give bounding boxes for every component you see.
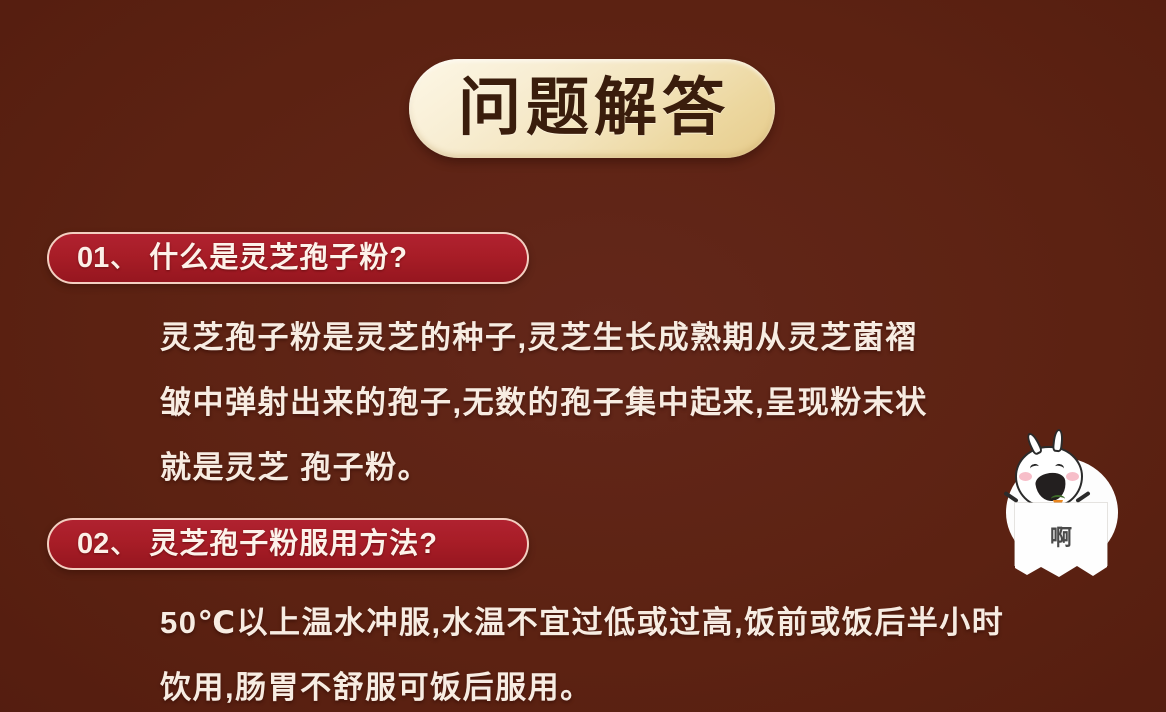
faq-number-01: 01: [77, 244, 109, 273]
faq-answer-02: 50℃以上温水冲服,水温不宜过低或过高,饭前或饭后半小时 饮用,肠胃不舒服可饭后…: [160, 590, 1090, 712]
faq-answer-line: 就是灵芝 孢子粉。: [160, 435, 1090, 500]
faq-answer-line: 皱中弹射出来的孢子,无数的孢子集中起来,呈现粉末状: [160, 370, 1090, 435]
rabbit-eye-left: [1029, 463, 1039, 472]
rabbit-cheek-left: [1019, 472, 1032, 481]
rabbit-sign-text: 啊: [1050, 527, 1072, 549]
faq-number-02: 02: [77, 530, 109, 559]
shouting-rabbit-sticker: 啊: [1001, 440, 1123, 582]
faq-answer-line: 50℃以上温水冲服,水温不宜过低或过高,饭前或饭后半小时: [160, 590, 1090, 655]
rabbit-held-sign: 啊: [1015, 503, 1107, 565]
rabbit-cheek-right: [1066, 472, 1079, 481]
faq-answer-01: 灵芝孢子粉是灵芝的种子,灵芝生长成熟期从灵芝菌褶 皱中弹射出来的孢子,无数的孢子…: [160, 305, 1090, 500]
faq-question-pill-01[interactable]: 01 、 什么是灵芝孢子粉?: [47, 232, 529, 284]
rabbit-head: [1015, 446, 1083, 508]
page-title: 问题解答: [454, 77, 730, 140]
faq-poster: 问题解答 01 、 什么是灵芝孢子粉? 灵芝孢子粉是灵芝的种子,灵芝生长成熟期从…: [0, 0, 1166, 712]
faq-separator-01: 、: [110, 245, 136, 271]
rabbit-eye-right: [1054, 463, 1064, 472]
rabbit-sign-torn-edge: [1015, 564, 1107, 578]
faq-answer-line: 饮用,肠胃不舒服可饭后服用。: [160, 655, 1090, 712]
faq-question-pill-02[interactable]: 02 、 灵芝孢子粉服用方法?: [47, 518, 529, 570]
faq-answer-line: 灵芝孢子粉是灵芝的种子,灵芝生长成熟期从灵芝菌褶: [160, 305, 1090, 370]
faq-separator-02: 、: [110, 531, 136, 557]
page-title-pill: 问题解答: [409, 59, 775, 158]
faq-question-text-01: 什么是灵芝孢子粉?: [149, 244, 408, 273]
faq-question-text-02: 灵芝孢子粉服用方法?: [149, 530, 438, 559]
